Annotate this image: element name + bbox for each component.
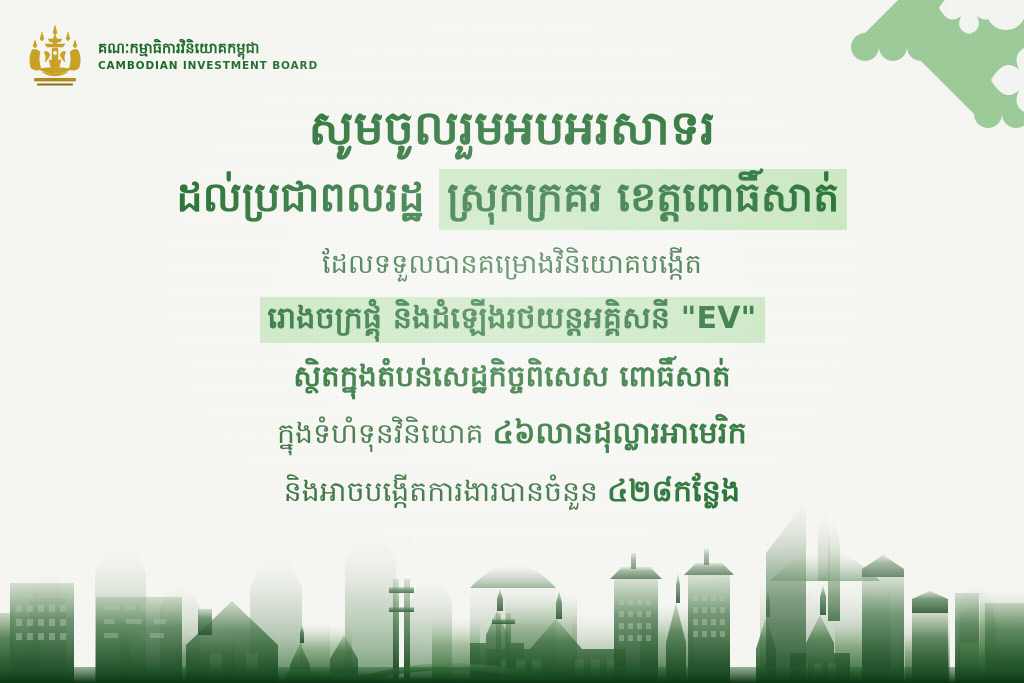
investment-line: ក្នុងទំហំទុនវិនិយោគ ៤៦លានដុល្លារអាមេរិក bbox=[277, 414, 747, 455]
headline-line-2-prefix: ដល់ប្រជាពលរដ្ឋ bbox=[177, 173, 425, 221]
org-name-english: CAMBODIAN INVESTMENT BOARD bbox=[98, 60, 318, 73]
headline-line-1: សូមចូលរួមអបអរសាទរ bbox=[309, 100, 716, 157]
cambodia-city-skyline-silhouette bbox=[0, 493, 1024, 683]
org-name-khmer: គណៈកម្មាធិការវិនិយោគកម្ពុជា bbox=[98, 40, 318, 58]
announcement-message: សូមចូលរួមអបអរសាទរ ដល់ប្រជាពលរដ្ឋ ស្រុកក្… bbox=[0, 100, 1024, 513]
location-highlight: ស្រុកក្រគរ ខេត្តពោធិ៍សាត់ bbox=[439, 169, 847, 229]
headline-line-2: ដល់ប្រជាពលរដ្ឋ ស្រុកក្រគរ ខេត្តពោធិ៍សាត់ bbox=[177, 169, 848, 229]
investment-value: ៤៦លានដុល្លារអាមេរិក bbox=[493, 416, 747, 451]
brand-header-text: គណៈកម្មាធិការវិនិយោគកម្ពុជា CAMBODIAN IN… bbox=[98, 38, 318, 73]
poster-canvas: គណៈកម្មាធិការវិនិយោគកម្ពុជា CAMBODIAN IN… bbox=[0, 0, 1024, 683]
project-highlight: រោងចក្រផ្គុំ និងដំឡើងរថយន្តអគ្គិសនី "EV" bbox=[260, 297, 765, 343]
subtitle-line: ដែលទទួលបានគម្រោងវិនិយោគបង្កើត bbox=[322, 247, 702, 283]
cambodia-royal-emblem bbox=[24, 22, 86, 88]
jobs-value: ៤២៨កន្លែង bbox=[607, 474, 740, 509]
brand-header: គណៈកម្មាធិការវិនិយោគកម្ពុជា CAMBODIAN IN… bbox=[24, 22, 318, 88]
project-line: រោងចក្រផ្គុំ និងដំឡើងរថយន្តអគ្គិសនី "EV" bbox=[260, 297, 765, 343]
zone-line: ស្ថិតក្នុងតំបន់សេដ្ឋកិច្ចពិសេស ពោធិ៍សាត់ bbox=[293, 358, 730, 396]
investment-label: ក្នុងទំហំទុនវិនិយោគ bbox=[277, 417, 483, 450]
jobs-label: និងអាចបង្កើតការងារបានចំនួន bbox=[284, 475, 598, 508]
jobs-line: និងអាចបង្កើតការងារបានចំនួន ៤២៨កន្លែង bbox=[284, 472, 740, 513]
